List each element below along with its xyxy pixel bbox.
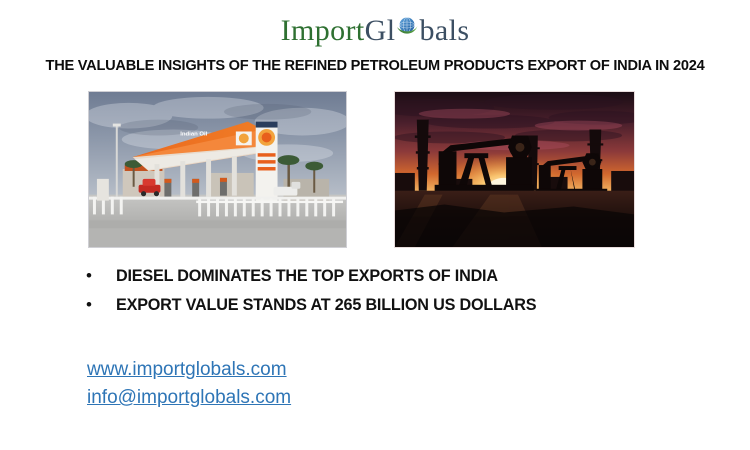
brand-word-import: Import bbox=[281, 14, 365, 48]
slide-canvas: ImportGl bbox=[0, 0, 750, 450]
list-item: • EXPORT VALUE STANDS AT 265 BILLION US … bbox=[86, 293, 706, 317]
bullet-marker-icon: • bbox=[86, 294, 116, 316]
brand-logo: ImportGl bbox=[0, 14, 750, 48]
bullet-marker-icon: • bbox=[86, 265, 116, 287]
website-link[interactable]: www.importglobals.com bbox=[87, 356, 291, 384]
oil-field-photo bbox=[394, 91, 635, 248]
brand-word-gl: Gl bbox=[365, 14, 396, 48]
brand-word-bals: bals bbox=[419, 14, 469, 48]
svg-text:Indian Oil: Indian Oil bbox=[180, 131, 207, 137]
page-title: THE VALUABLE INSIGHTS OF THE REFINED PET… bbox=[0, 58, 750, 74]
email-link[interactable]: info@importglobals.com bbox=[87, 384, 291, 412]
contact-links: www.importglobals.com info@importglobals… bbox=[87, 356, 291, 412]
bullet-list: • DIESEL DOMINATES THE TOP EXPORTS OF IN… bbox=[86, 264, 706, 322]
petrol-station-photo: Indian Oil bbox=[88, 91, 347, 248]
list-item: • DIESEL DOMINATES THE TOP EXPORTS OF IN… bbox=[86, 264, 706, 288]
bullet-text: DIESEL DOMINATES THE TOP EXPORTS OF INDI… bbox=[116, 264, 498, 288]
bullet-text: EXPORT VALUE STANDS AT 265 BILLION US DO… bbox=[116, 293, 536, 317]
globe-icon bbox=[395, 14, 419, 38]
